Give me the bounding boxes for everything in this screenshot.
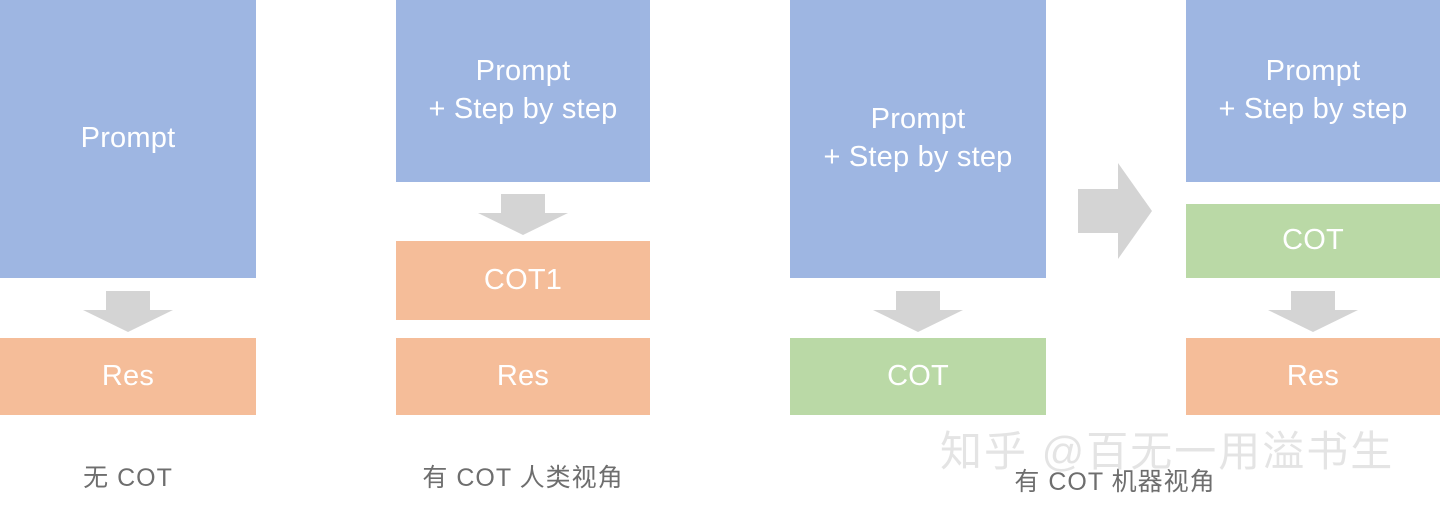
node-res-col2: Res xyxy=(396,338,650,415)
node-prompt-step-col2: Prompt + Step by step xyxy=(396,0,650,182)
node-res-col4: Res xyxy=(1186,338,1440,415)
node-prompt-step-col4: Prompt + Step by step xyxy=(1186,0,1440,182)
arrow-down-col1 xyxy=(83,291,173,332)
caption-col2: 有 COT 人类视角 xyxy=(396,458,650,494)
caption-col3: 有 COT 机器视角 xyxy=(790,462,1440,498)
node-cot1-col2: COT1 xyxy=(396,241,650,320)
arrow-down-col4 xyxy=(1268,291,1358,332)
caption-col1: 无 COT xyxy=(0,458,256,494)
node-cot-col3: COT xyxy=(790,338,1046,415)
node-prompt-col1: Prompt xyxy=(0,0,256,278)
node-prompt-step-col3: Prompt + Step by step xyxy=(790,0,1046,278)
arrow-down-col3 xyxy=(873,291,963,332)
diagram-canvas: Prompt Res 无 COT Prompt + Step by step C… xyxy=(0,0,1440,514)
arrow-down-col2 xyxy=(478,194,568,235)
node-cot-col4: COT xyxy=(1186,204,1440,278)
node-res-col1: Res xyxy=(0,338,256,415)
arrow-right-between-col3-col4 xyxy=(1078,163,1152,259)
